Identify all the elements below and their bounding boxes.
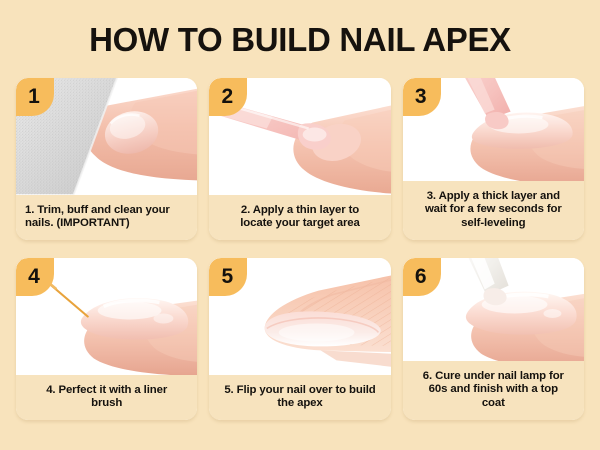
steps-grid: 1 1. Trim, buff and clean your nails. (I… bbox=[16, 78, 584, 420]
step-number-3: 3 bbox=[415, 86, 427, 107]
step-caption-5: 5. Flip your nail over to build the apex bbox=[209, 375, 390, 420]
step-card-4[interactable]: 4 4. Perfect it with a liner brush bbox=[16, 258, 197, 420]
step-card-6[interactable]: 6 6. Cure under nail lamp for 60s and fi… bbox=[403, 258, 584, 420]
step-number-1: 1 bbox=[28, 86, 40, 107]
step-card-5[interactable]: 5 5. Flip your nail over to build the ap… bbox=[209, 258, 390, 420]
step-card-2[interactable]: 2 2. Apply a thin layer to locate your t… bbox=[209, 78, 390, 240]
step-caption-6: 6. Cure under nail lamp for 60s and fini… bbox=[403, 361, 584, 420]
page-title: HOW TO BUILD NAIL APEX bbox=[0, 22, 600, 58]
step-caption-1: 1. Trim, buff and clean your nails. (IMP… bbox=[16, 195, 197, 240]
step-number-5: 5 bbox=[221, 266, 233, 287]
step-caption-4: 4. Perfect it with a liner brush bbox=[16, 375, 197, 420]
step-card-1[interactable]: 1 1. Trim, buff and clean your nails. (I… bbox=[16, 78, 197, 240]
step-number-2: 2 bbox=[221, 86, 233, 107]
step-caption-2: 2. Apply a thin layer to locate your tar… bbox=[209, 195, 390, 240]
step-caption-3: 3. Apply a thick layer and wait for a fe… bbox=[403, 181, 584, 240]
step-number-6: 6 bbox=[415, 266, 427, 287]
step-card-3[interactable]: 3 3. Apply a thick layer and wait for a … bbox=[403, 78, 584, 240]
step-number-4: 4 bbox=[28, 266, 40, 287]
